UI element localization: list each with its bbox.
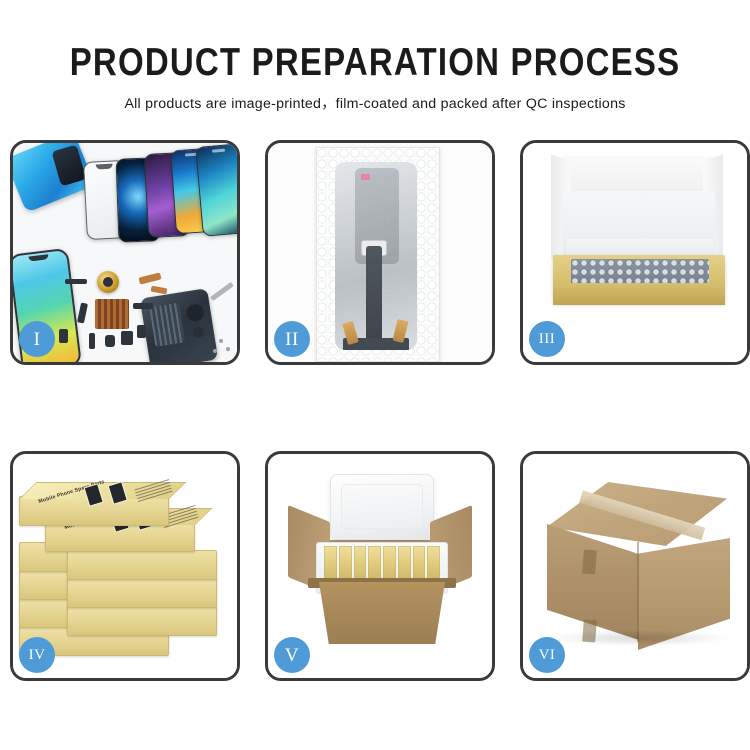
product-preparation-infographic: PRODUCT PREPARATION PROCESS All products… xyxy=(0,0,750,750)
kraft-box-icon-1: Mobile Phone Spare Parts xyxy=(19,496,169,526)
part-sim-tray-icon xyxy=(59,329,68,343)
kraft-box-icon-r4 xyxy=(67,606,217,636)
kraft-tray-front-icon xyxy=(553,283,725,305)
carton-handle-tab-icon-1 xyxy=(582,550,597,575)
page-subtitle: All products are image-printed，film-coat… xyxy=(0,93,750,113)
carton-seam-icon xyxy=(637,542,639,642)
part-gold-flex-icon-2 xyxy=(151,286,168,295)
part-button-icon xyxy=(89,333,95,349)
part-camera-icon xyxy=(105,335,115,347)
step-panel-4: Mobile Phone Spare Parts Mobile Phone Sp… xyxy=(10,451,240,681)
box-spec-lines-1 xyxy=(134,479,173,504)
kraft-box-lid-icon-1: Mobile Phone Spare Parts xyxy=(19,482,187,499)
box-art-thumb-a1 xyxy=(84,483,104,507)
copper-coil-icon xyxy=(97,271,119,293)
phone-screen-icon-4 xyxy=(195,143,237,237)
screw-icon-1 xyxy=(219,339,223,343)
part-speaker-icon xyxy=(65,279,87,284)
carton-front-wall-icon xyxy=(312,582,452,644)
kraft-box-icon-2: Mobile Phone Spare Parts xyxy=(45,522,195,552)
screw-icon-2 xyxy=(226,347,230,351)
header: PRODUCT PREPARATION PROCESS All products… xyxy=(0,0,750,113)
tweezers-icon xyxy=(210,282,234,301)
pink-sticker-icon xyxy=(361,174,370,180)
bubble-wrap-bag-icon xyxy=(316,147,440,362)
wrapped-screen-icon xyxy=(335,162,417,350)
box-art-thumb-b1 xyxy=(108,481,128,505)
step-badge-6: VI xyxy=(529,637,565,673)
step-badge-2: II xyxy=(274,321,310,357)
circuit-board-icon xyxy=(95,299,129,329)
screw-icon-3 xyxy=(213,349,217,353)
flex-cable-icon xyxy=(366,246,382,342)
carton-shadow xyxy=(551,630,727,646)
kraft-box-icon-r3 xyxy=(67,578,217,608)
step-panel-2: II xyxy=(265,140,495,365)
phone-chassis-icon xyxy=(140,288,218,362)
step-panel-1: I xyxy=(10,140,240,365)
step-panel-6: VI xyxy=(520,451,750,681)
kraft-box-icon-r2 xyxy=(67,550,217,580)
process-steps-grid: I II xyxy=(10,140,740,681)
kraft-box-stack: Mobile Phone Spare Parts Mobile Phone Sp… xyxy=(19,478,231,668)
part-gold-flex-icon-1 xyxy=(138,272,161,284)
part-flex-strip-icon xyxy=(77,302,88,323)
step-badge-4: IV xyxy=(19,637,55,673)
step-panel-3: III xyxy=(520,140,750,365)
step-badge-1: I xyxy=(19,321,55,357)
part-sensor-icon xyxy=(137,325,146,338)
part-ribbon-icon xyxy=(133,303,153,309)
page-title: PRODUCT PREPARATION PROCESS xyxy=(0,42,750,81)
part-module-icon xyxy=(121,331,133,345)
foam-lid-icon xyxy=(330,474,434,540)
step-panel-5: V xyxy=(265,451,495,681)
step-badge-3: III xyxy=(529,321,565,357)
step-badge-5: V xyxy=(274,637,310,673)
